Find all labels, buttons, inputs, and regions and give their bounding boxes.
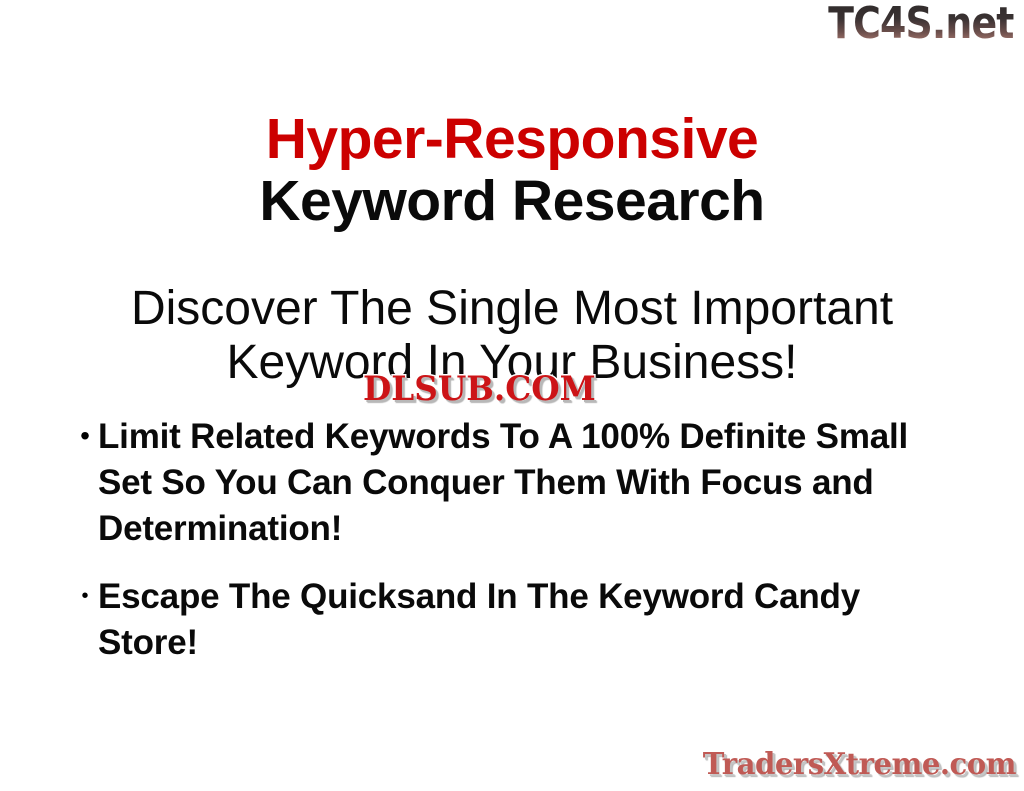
bullet-point-icon: •	[72, 414, 98, 458]
slide-canvas: TC4S.net Hyper-Responsive Keyword Resear…	[0, 0, 1024, 791]
bullet-list: • Limit Related Keywords To A 100% Defin…	[72, 414, 942, 688]
page-title: Hyper-Responsive Keyword Research	[0, 108, 1024, 232]
bullet-point-icon: •	[72, 574, 98, 618]
brand-logo-tc4s: TC4S.net	[829, 2, 1014, 46]
page-title-line-1: Hyper-Responsive	[0, 108, 1024, 170]
list-item-text: Escape The Quicksand In The Keyword Cand…	[98, 574, 942, 666]
watermark-dlsub: DLSUB.COM	[363, 370, 596, 408]
list-item-text: Limit Related Keywords To A 100% Definit…	[98, 414, 942, 552]
brand-logo-tradersxtreme: TradersXtreme.com	[703, 747, 1016, 783]
list-item: • Escape The Quicksand In The Keyword Ca…	[72, 574, 942, 666]
list-item: • Limit Related Keywords To A 100% Defin…	[72, 414, 942, 552]
page-subtitle-line-1: Discover The Single Most Important	[0, 282, 1024, 336]
page-title-line-2: Keyword Research	[0, 170, 1024, 232]
